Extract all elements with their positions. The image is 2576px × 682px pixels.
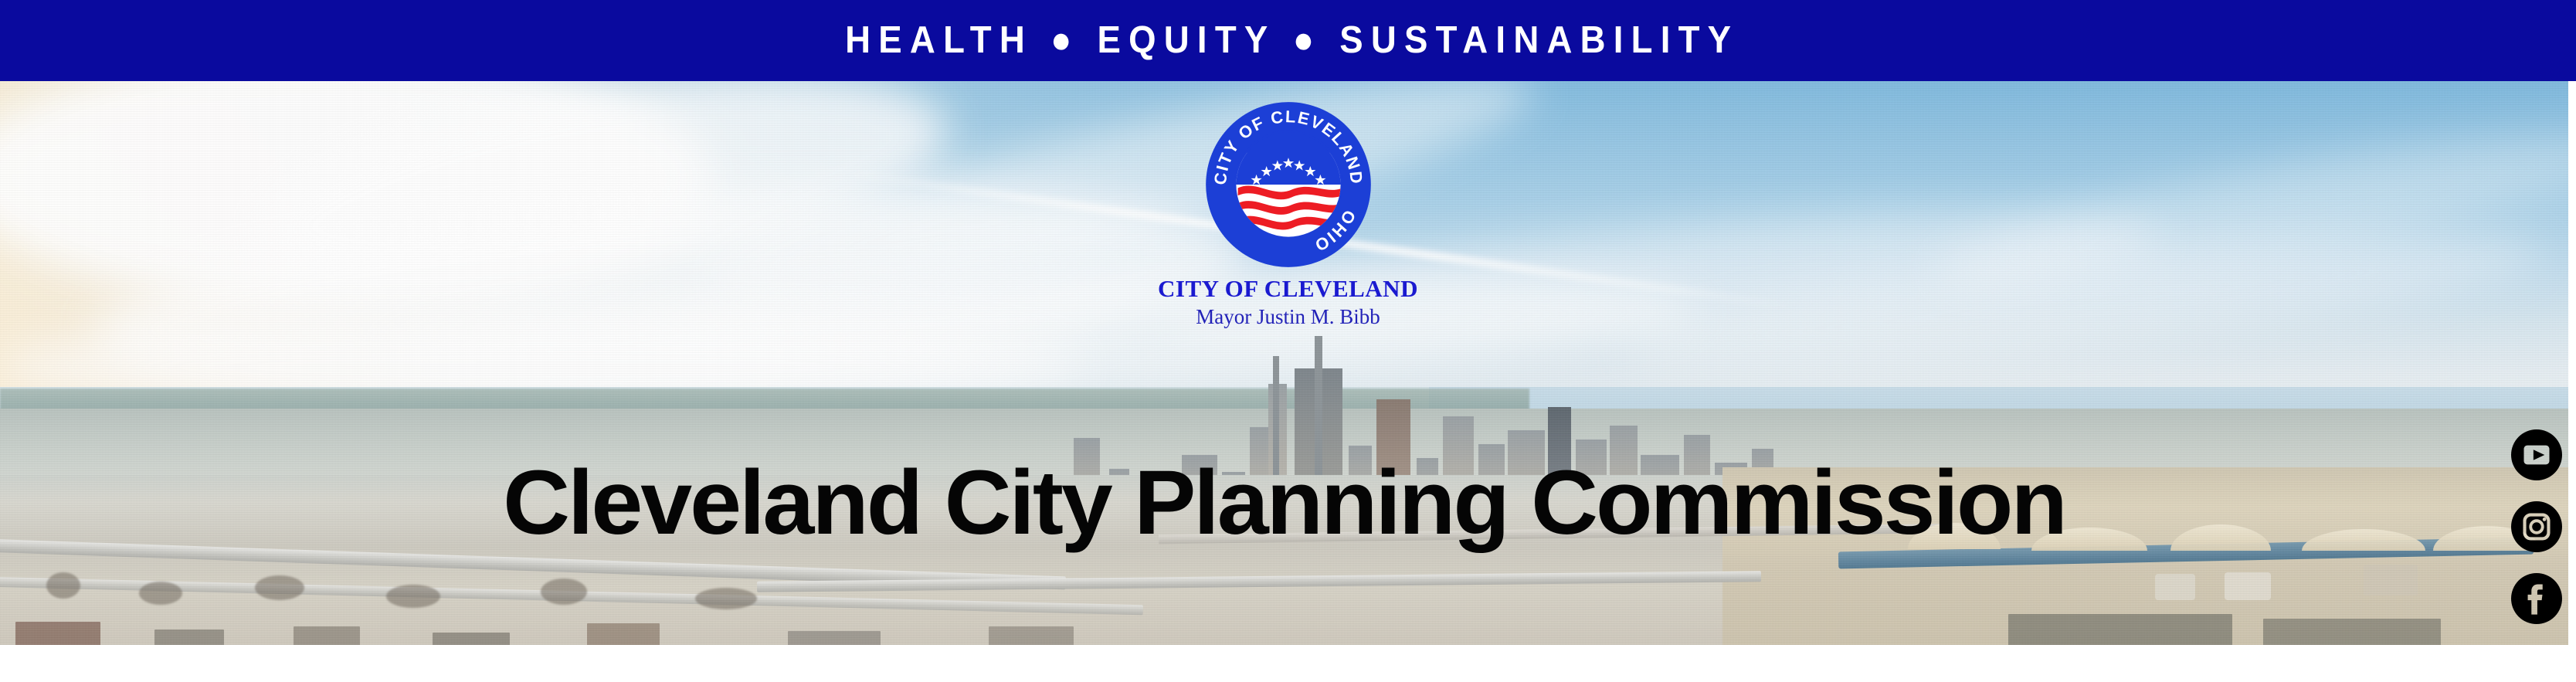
top-banner: HEALTH ● EQUITY ● SUSTAINABILITY	[0, 0, 2576, 81]
youtube-icon[interactable]	[2511, 429, 2562, 480]
city-of-cleveland-logo: CITY OF CLEVELAND OHIO CITY OF CLEVELAND…	[1088, 100, 1489, 327]
social-media-rail	[2511, 429, 2562, 624]
city-seal-icon: CITY OF CLEVELAND OHIO	[1204, 100, 1373, 269]
bottom-margin	[0, 645, 2576, 682]
right-margin	[2568, 81, 2576, 682]
logo-mayor-name: Mayor Justin M. Bibb	[1088, 306, 1489, 327]
facebook-icon[interactable]	[2511, 573, 2562, 624]
instagram-icon[interactable]	[2511, 501, 2562, 552]
logo-city-name: CITY OF CLEVELAND	[1088, 277, 1489, 302]
page-title: Cleveland City Planning Commission	[0, 457, 2576, 548]
banner-tagline: HEALTH ● EQUITY ● SUSTAINABILITY	[837, 22, 1739, 59]
page-root: HEALTH ● EQUITY ● SUSTAINABILITY	[0, 0, 2576, 682]
